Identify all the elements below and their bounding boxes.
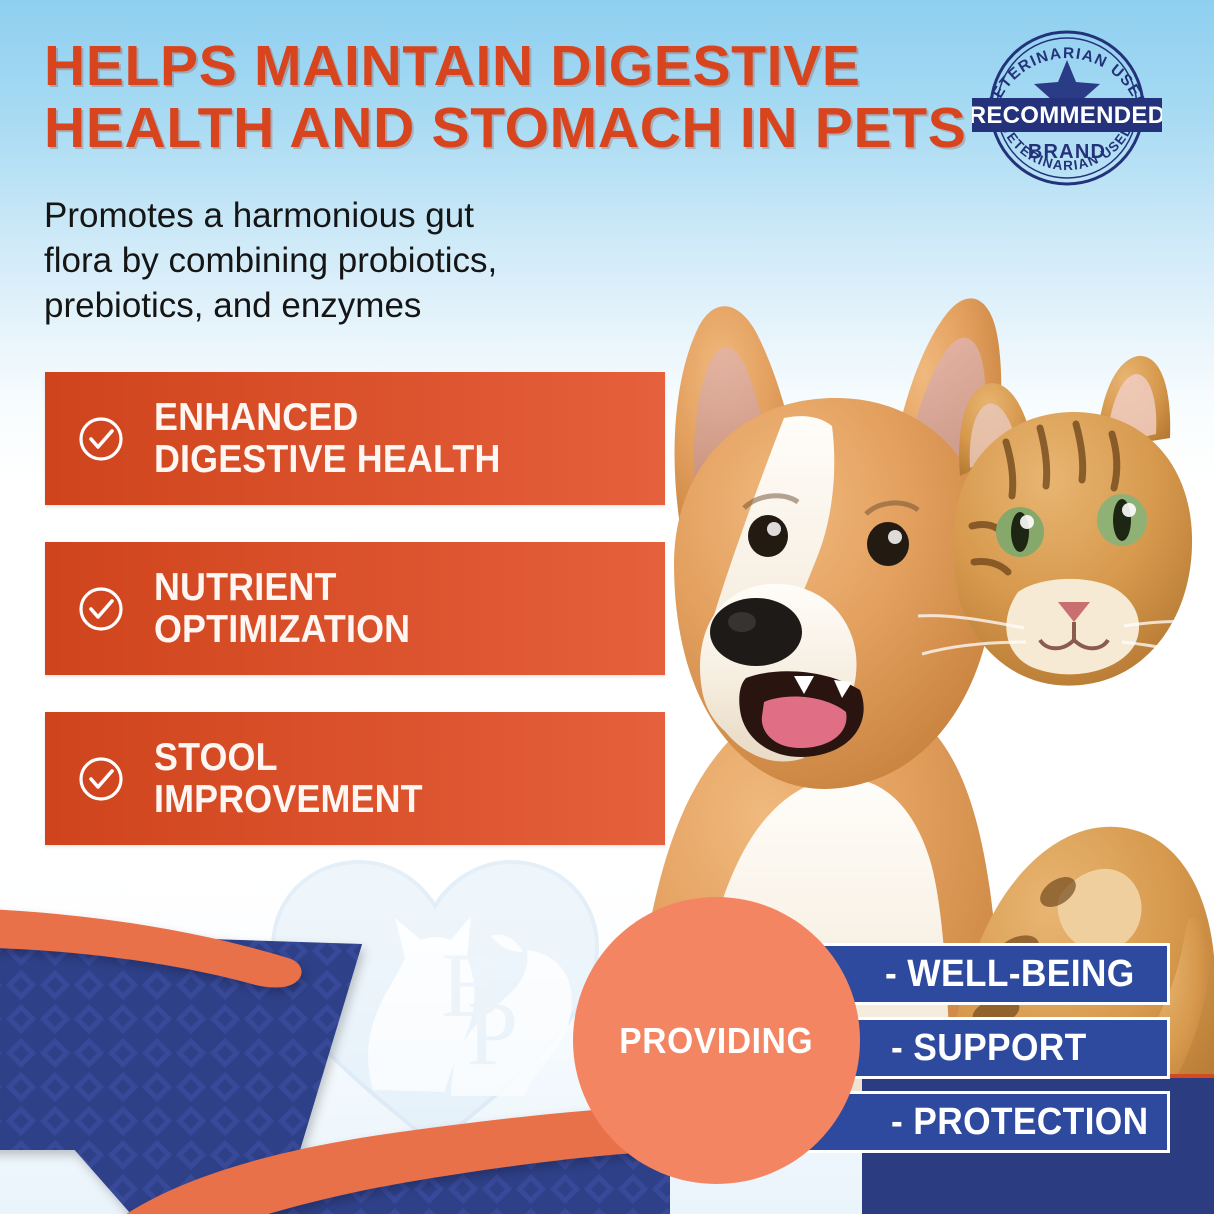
orange-swoosh-bottom	[116, 1104, 670, 1214]
feature-bar[interactable]: STOOL IMPROVEMENT	[45, 712, 665, 845]
check-circle-icon	[77, 755, 125, 803]
orange-swoosh-top	[0, 908, 302, 988]
watermark-monogram-p: P	[467, 982, 518, 1084]
providing-circle[interactable]: PROVIDING	[573, 897, 860, 1184]
badge-banner-text: RECOMMENDED	[972, 102, 1162, 129]
vet-recommended-badge: VETERINARIAN USED RECOMMENDED BRAND VETE…	[972, 24, 1162, 190]
subtitle-line-2: flora by combining probiotics,	[44, 239, 604, 284]
decorative-swoosh-shapes	[0, 900, 670, 1214]
brand-watermark: B P	[255, 840, 615, 1170]
providing-label: PROVIDING	[620, 1020, 814, 1062]
feature-bar-line-1: STOOL	[154, 737, 423, 778]
feature-bars-list: ENHANCED DIGESTIVE HEALTH NUTRIENT OPTIM…	[45, 372, 665, 882]
feature-bar-line-1: ENHANCED	[154, 397, 501, 438]
feature-bar[interactable]: NUTRIENT OPTIMIZATION	[45, 542, 665, 675]
page-title: HELPS MAINTAIN DIGESTIVE HEALTH AND STOM…	[44, 36, 974, 159]
feature-bar-line-2: OPTIMIZATION	[154, 609, 410, 650]
navy-check-shape	[0, 936, 670, 1214]
watermark-monogram-b: B	[441, 934, 502, 1036]
headline-line-2: HEALTH AND STOMACH IN PETS	[44, 98, 974, 160]
feature-bar-label: NUTRIENT OPTIMIZATION	[154, 567, 410, 650]
benefit-label: - SUPPORT	[891, 1027, 1087, 1070]
feature-bar-label: ENHANCED DIGESTIVE HEALTH	[154, 397, 501, 480]
headline-line-1: HELPS MAINTAIN DIGESTIVE	[44, 36, 974, 98]
benefit-label: - WELL-BEING	[885, 953, 1135, 996]
poster-canvas: B P	[0, 0, 1214, 1214]
benefit-label: - PROTECTION	[891, 1101, 1149, 1144]
subtitle-line-3: prebiotics, and enzymes	[44, 284, 604, 329]
cat-silhouette-icon	[368, 916, 474, 1092]
feature-bar-line-1: NUTRIENT	[154, 567, 410, 608]
check-circle-icon	[77, 585, 125, 633]
dog-silhouette-icon	[451, 935, 572, 1096]
feature-bar-line-2: IMPROVEMENT	[154, 779, 423, 820]
feature-bar[interactable]: ENHANCED DIGESTIVE HEALTH	[45, 372, 665, 505]
feature-bar-label: STOOL IMPROVEMENT	[154, 737, 423, 820]
feature-bar-line-2: DIGESTIVE HEALTH	[154, 439, 501, 480]
subtitle: Promotes a harmonious gut flora by combi…	[44, 194, 604, 328]
subtitle-line-1: Promotes a harmonious gut	[44, 194, 604, 239]
check-circle-icon	[77, 415, 125, 463]
